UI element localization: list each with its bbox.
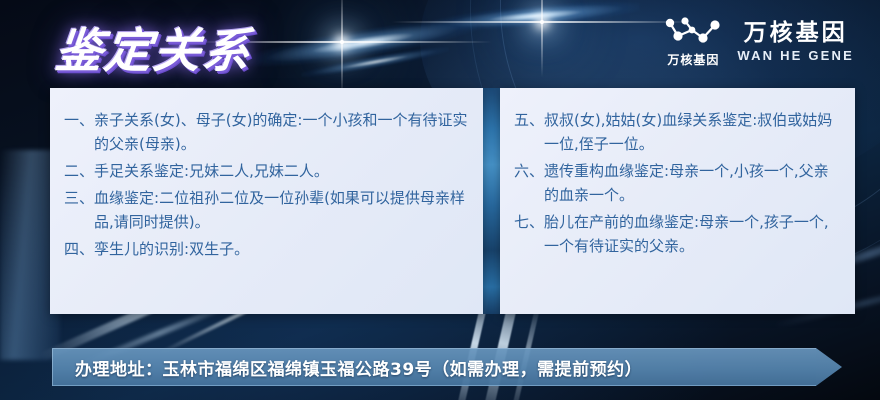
address-text: 办理地址：玉林市福绵区福绵镇玉福公路39号（如需办理，需提前预约）	[75, 355, 642, 380]
molecule-icon	[663, 16, 723, 48]
right-info-panel: 五、 叔叔(女),姑姑(女)血绿关系鉴定:叔伯或姑妈一位,侄子一位。 六、 遗传…	[500, 88, 855, 314]
list-item-number: 四、	[64, 237, 94, 261]
panel-divider	[483, 88, 500, 314]
brand-name-cn: 万核基因	[744, 21, 848, 46]
logo-wordmark: 万核基因 WAN HE GENE	[737, 21, 854, 63]
list-item: 四、 孪生儿的识别:双生子。	[64, 237, 469, 261]
brand-logo: 万核基因 万核基因 WAN HE GENE	[663, 16, 854, 68]
left-info-panel: 一、 亲子关系(女)、母子(女)的确定:一个小孩和一个有待证实的父亲(母亲)。 …	[50, 88, 483, 314]
list-item-text: 血缘鉴定:二位祖孙二位及一位孙辈(如果可以提供母亲样品,请同时提供)。	[94, 186, 469, 234]
lens-flare-2	[430, 0, 641, 35]
logo-mark-text: 万核基因	[667, 51, 719, 68]
poster-canvas: 鉴定关系	[0, 0, 880, 400]
starburst-1	[340, 40, 344, 44]
list-item-text: 遗传重构血缘鉴定:母亲一个,小孩一个,父亲的血亲一个。	[544, 159, 841, 207]
list-item: 六、 遗传重构血缘鉴定:母亲一个,小孩一个,父亲的血亲一个。	[514, 159, 841, 207]
logo-mark: 万核基因	[663, 16, 723, 68]
lens-flare-3	[300, 43, 450, 81]
list-item-number: 七、	[514, 210, 544, 258]
list-item-text: 手足关系鉴定:兄妹二人,兄妹二人。	[94, 159, 469, 183]
list-item-text: 孪生儿的识别:双生子。	[94, 237, 469, 261]
list-item: 二、 手足关系鉴定:兄妹二人,兄妹二人。	[64, 159, 469, 183]
list-item-number: 一、	[64, 108, 94, 156]
chevron-right-icon	[816, 348, 842, 386]
brand-name-en: WAN HE GENE	[737, 48, 854, 63]
page-title: 鉴定关系	[52, 12, 255, 81]
list-item-number: 五、	[514, 108, 544, 156]
list-item-text: 亲子关系(女)、母子(女)的确定:一个小孩和一个有待证实的父亲(母亲)。	[94, 108, 469, 156]
list-item: 一、 亲子关系(女)、母子(女)的确定:一个小孩和一个有待证实的父亲(母亲)。	[64, 108, 469, 156]
lens-flare-1	[247, 12, 478, 74]
list-item: 三、 血缘鉴定:二位祖孙二位及一位孙辈(如果可以提供母亲样品,请同时提供)。	[64, 186, 469, 234]
address-bar: 办理地址：玉林市福绵区福绵镇玉福公路39号（如需办理，需提前预约）	[52, 348, 842, 386]
list-item: 七、 胎儿在产前的血缘鉴定:母亲一个,孩子一个,一个有待证实的父亲。	[514, 210, 841, 258]
list-item-text: 胎儿在产前的血缘鉴定:母亲一个,孩子一个,一个有待证实的父亲。	[544, 210, 841, 258]
starburst-2	[540, 20, 544, 24]
list-item-text: 叔叔(女),姑姑(女)血绿关系鉴定:叔伯或姑妈一位,侄子一位。	[544, 108, 841, 156]
list-item-number: 三、	[64, 186, 94, 234]
list-item-number: 六、	[514, 159, 544, 207]
address-bar-body: 办理地址：玉林市福绵区福绵镇玉福公路39号（如需办理，需提前预约）	[52, 348, 816, 386]
list-item: 五、 叔叔(女),姑姑(女)血绿关系鉴定:叔伯或姑妈一位,侄子一位。	[514, 108, 841, 156]
list-item-number: 二、	[64, 159, 94, 183]
